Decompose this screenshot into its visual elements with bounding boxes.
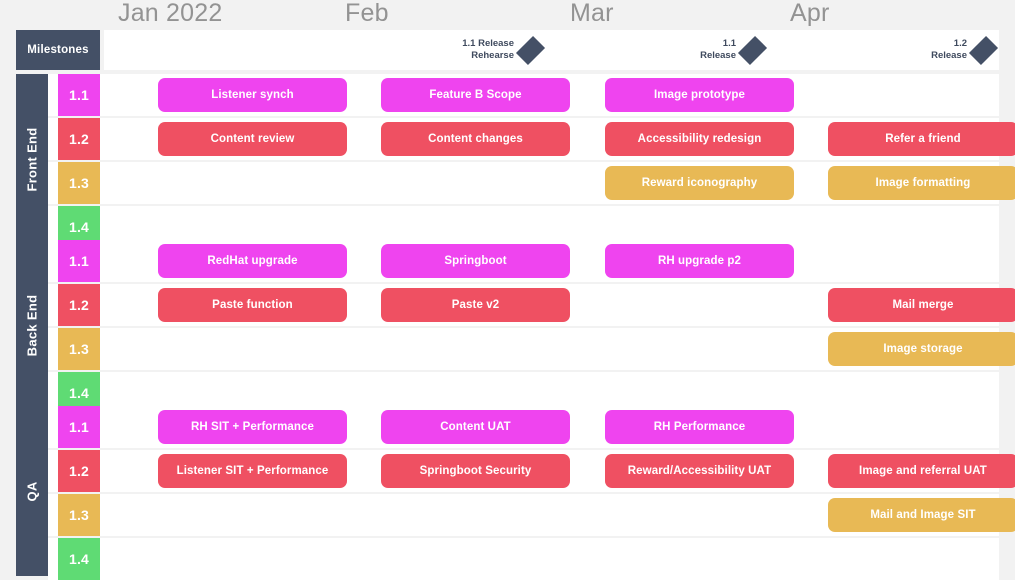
version-badge[interactable]: 1.3 [58, 162, 100, 204]
roadmap-row: 1.1Listener synchFeature B ScopeImage pr… [48, 74, 999, 118]
roadmap-row: 1.3Reward iconographyImage formatting [48, 162, 999, 206]
task-bar[interactable]: Feature B Scope [381, 78, 570, 112]
diamond-icon [518, 30, 544, 70]
task-bar[interactable]: Content changes [381, 122, 570, 156]
task-bar[interactable]: RH Performance [605, 410, 794, 444]
task-bar[interactable]: Reward iconography [605, 166, 794, 200]
milestones-row: Milestones 1.1 ReleaseRehearse1.1Release… [16, 30, 999, 70]
row-lane: Listener SIT + PerformanceSpringboot Sec… [110, 450, 999, 492]
month-label: Apr [790, 0, 830, 27]
section-rows: 1.1RedHat upgradeSpringbootRH upgrade p2… [48, 240, 999, 410]
task-bar[interactable]: Mail merge [828, 288, 1015, 322]
row-lane: Paste functionPaste v2Mail merge [110, 284, 999, 326]
section-tab[interactable]: QA [16, 406, 48, 576]
roadmap-section: Front End1.1Listener synchFeature B Scop… [16, 74, 999, 244]
milestone-label-line1: 1.1 [700, 38, 736, 50]
task-bar[interactable]: Paste function [158, 288, 347, 322]
row-lane: Content reviewContent changesAccessibili… [110, 118, 999, 160]
milestone-label-line1: 1.2 [931, 38, 967, 50]
version-badge[interactable]: 1.2 [58, 118, 100, 160]
roadmap-row: 1.2Content reviewContent changesAccessib… [48, 118, 999, 162]
row-lane: Listener synchFeature B ScopeImage proto… [110, 74, 999, 116]
version-badge[interactable]: 1.1 [58, 240, 100, 282]
version-badge[interactable]: 1.3 [58, 328, 100, 370]
roadmap-row: 1.1RH SIT + PerformanceContent UATRH Per… [48, 406, 999, 450]
month-label: Jan 2022 [118, 0, 222, 27]
task-bar[interactable]: Listener synch [158, 78, 347, 112]
month-label: Mar [570, 0, 614, 27]
milestone-marker[interactable]: 1.2Release [931, 30, 997, 70]
section-tab-label: QA [24, 481, 39, 501]
task-bar[interactable]: Image prototype [605, 78, 794, 112]
milestone-marker[interactable]: 1.1 ReleaseRehearse [462, 30, 544, 70]
task-bar[interactable]: Accessibility redesign [605, 122, 794, 156]
roadmap-row: 1.2Paste functionPaste v2Mail merge [48, 284, 999, 328]
milestone-label-line1: 1.1 Release [462, 38, 514, 50]
row-lane: RH SIT + PerformanceContent UATRH Perfor… [110, 406, 999, 448]
milestone-label-line2: Rehearse [462, 50, 514, 62]
milestones-label: Milestones [16, 30, 100, 70]
diamond-icon [740, 30, 766, 70]
task-bar[interactable]: Springboot Security [381, 454, 570, 488]
version-badge[interactable]: 1.1 [58, 406, 100, 448]
task-bar[interactable]: Content review [158, 122, 347, 156]
roadmap-row: 1.2Listener SIT + PerformanceSpringboot … [48, 450, 999, 494]
task-bar[interactable]: RedHat upgrade [158, 244, 347, 278]
row-lane: Mail and Image SIT [110, 494, 999, 536]
section-tab[interactable]: Front End [16, 74, 48, 244]
task-bar[interactable]: Image and referral UAT [828, 454, 1015, 488]
task-bar[interactable]: Springboot [381, 244, 570, 278]
month-label: Feb [345, 0, 389, 27]
task-bar[interactable]: Paste v2 [381, 288, 570, 322]
version-badge[interactable]: 1.2 [58, 284, 100, 326]
row-lane: Reward iconographyImage formatting [110, 162, 999, 204]
task-bar[interactable]: Listener SIT + Performance [158, 454, 347, 488]
task-bar[interactable]: Mail and Image SIT [828, 498, 1015, 532]
milestone-label: 1.1Release [700, 38, 740, 62]
task-bar[interactable]: RH upgrade p2 [605, 244, 794, 278]
diamond-shape [515, 35, 544, 64]
milestone-label-line2: Release [700, 50, 736, 62]
version-badge[interactable]: 1.4 [58, 538, 100, 580]
version-badge[interactable]: 1.2 [58, 450, 100, 492]
section-rows: 1.1Listener synchFeature B ScopeImage pr… [48, 74, 999, 244]
milestone-label: 1.1 ReleaseRehearse [462, 38, 518, 62]
roadmap-section: QA1.1RH SIT + PerformanceContent UATRH P… [16, 406, 999, 576]
roadmap-section: Back End1.1RedHat upgradeSpringbootRH up… [16, 240, 999, 410]
section-rows: 1.1RH SIT + PerformanceContent UATRH Per… [48, 406, 999, 576]
task-bar[interactable]: Image storage [828, 332, 1015, 366]
row-lane [110, 538, 999, 580]
roadmap-gantt-chart: Jan 2022FebMarApr Milestones 1.1 Release… [0, 0, 1015, 532]
version-badge[interactable]: 1.3 [58, 494, 100, 536]
section-tab-label: Back End [25, 294, 40, 356]
milestone-label: 1.2Release [931, 38, 971, 62]
row-lane: Image storage [110, 328, 999, 370]
milestone-label-line2: Release [931, 50, 967, 62]
section-tab[interactable]: Back End [16, 240, 48, 410]
timeline-month-header: Jan 2022FebMarApr [0, 0, 1015, 28]
task-bar[interactable]: Reward/Accessibility UAT [605, 454, 794, 488]
roadmap-row: 1.1RedHat upgradeSpringbootRH upgrade p2 [48, 240, 999, 284]
version-badge[interactable]: 1.1 [58, 74, 100, 116]
roadmap-row: 1.3Image storage [48, 328, 999, 372]
task-bar[interactable]: Image formatting [828, 166, 1015, 200]
task-bar[interactable]: RH SIT + Performance [158, 410, 347, 444]
task-bar[interactable]: Refer a friend [828, 122, 1015, 156]
diamond-shape [737, 35, 766, 64]
task-bar[interactable]: Content UAT [381, 410, 570, 444]
milestones-track: 1.1 ReleaseRehearse1.1Release1.2Release [104, 30, 999, 70]
diamond-shape [968, 35, 997, 64]
section-tab-label: Front End [25, 127, 40, 191]
roadmap-row: 1.3Mail and Image SIT [48, 494, 999, 538]
diamond-icon [971, 30, 997, 70]
row-lane: RedHat upgradeSpringbootRH upgrade p2 [110, 240, 999, 282]
milestone-marker[interactable]: 1.1Release [700, 30, 766, 70]
roadmap-row: 1.4 [48, 538, 999, 580]
